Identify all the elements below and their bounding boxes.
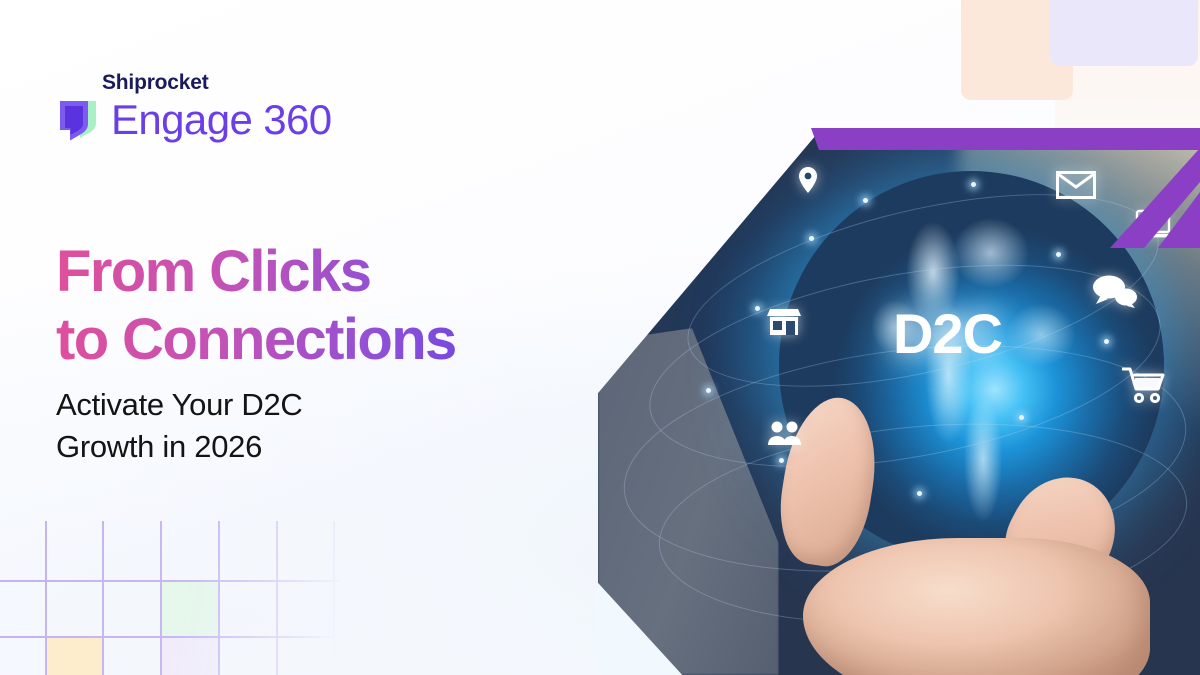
brand-logo[interactable]: Shiprocket Engage 360 [56, 70, 386, 143]
hand-illustration [718, 431, 1188, 675]
grid-line-horizontal [0, 636, 340, 638]
users-group-icon [767, 420, 803, 451]
grid-line-vertical [218, 521, 220, 675]
network-node [971, 182, 976, 187]
marketing-banner: Shiprocket Engage 360 From Clicks to Con… [0, 0, 1200, 675]
globe-label-d2c: D2C [893, 306, 1002, 362]
envelope-icon [1056, 171, 1096, 204]
grid-line-vertical [102, 521, 104, 675]
chat-bubbles-icon [1092, 274, 1138, 313]
hand-palm [803, 538, 1150, 675]
network-node [863, 198, 868, 203]
video-player-icon [1134, 209, 1172, 244]
grid-line-vertical [45, 521, 47, 675]
brand-product-name: Engage 360 [111, 99, 332, 141]
storefront-icon [767, 306, 801, 343]
hero-photo-globe-in-hand: D2C [598, 133, 1200, 675]
decor-lavender-block [1050, 0, 1198, 66]
location-pin-icon [797, 166, 819, 199]
shopping-cart-icon [1122, 366, 1168, 409]
grid-line-vertical [160, 521, 162, 675]
decor-grid-pattern [0, 521, 340, 675]
grid-line-vertical [333, 521, 335, 675]
grid-cell-orange [45, 636, 102, 675]
grid-line-horizontal [0, 580, 340, 582]
network-node [1104, 339, 1109, 344]
grid-cell-green [160, 580, 218, 636]
brand-company-name: Shiprocket [102, 70, 386, 95]
speech-bubble-shield-icon [56, 97, 100, 143]
network-node [1056, 252, 1061, 257]
hero-image: D2C [598, 133, 1200, 675]
page-headline: From Clicks to Connections [56, 238, 596, 375]
grid-line-vertical [276, 521, 278, 675]
network-node [809, 236, 814, 241]
page-subheadline: Activate Your D2C Growth in 2026 [56, 384, 536, 468]
grid-cell-purple [160, 636, 218, 675]
